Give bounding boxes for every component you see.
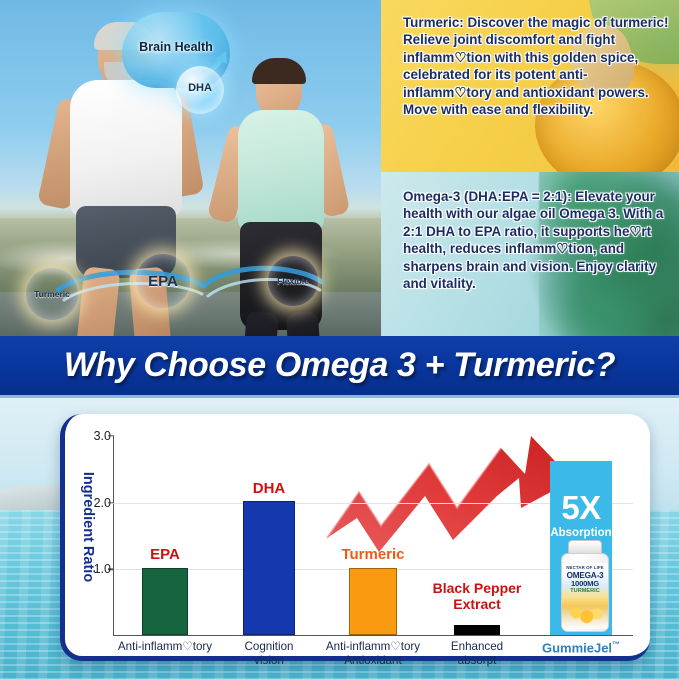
headline-banner: Why Choose Omega 3 + Turmeric? bbox=[0, 336, 679, 398]
x-axis-label: GummieJel™ bbox=[511, 640, 651, 656]
y-tick-label: 2.0 bbox=[81, 496, 111, 510]
product-bottle: NECTAR OF LIFEOMEGA-31000MGTURMERIC bbox=[559, 540, 611, 632]
x-axis-line bbox=[113, 635, 633, 636]
omega-description: Omega-3 (DHA:EPA = 2:1): Elevate your he… bbox=[403, 188, 669, 293]
pill-epa-label: EPA bbox=[148, 273, 178, 290]
runner-hair bbox=[252, 58, 306, 84]
chart-section: Ingredient Ratio 1 bbox=[0, 398, 679, 679]
bottle-secondary: TURMERIC bbox=[562, 588, 608, 594]
chart-bar bbox=[454, 625, 500, 635]
runner-tank-top bbox=[238, 110, 324, 232]
turmeric-description: Turmeric: Discover the magic of turmeric… bbox=[403, 14, 669, 119]
chart-card: Ingredient Ratio 1 bbox=[60, 414, 650, 661]
y-axis-line bbox=[113, 436, 114, 636]
page-title: Why Choose Omega 3 + Turmeric? bbox=[64, 346, 615, 385]
lifestyle-photo: Brain Health DHA Turmeric EPA bbox=[0, 0, 381, 336]
y-tick-label: 3.0 bbox=[81, 429, 111, 443]
turmeric-panel: Turmeric: Discover the magic of turmeric… bbox=[381, 0, 679, 172]
y-tick-label: 1.0 bbox=[81, 562, 111, 576]
chart-bar bbox=[243, 501, 295, 634]
absorption-sublabel: Absorption bbox=[526, 527, 636, 539]
pill-turmeric: Turmeric bbox=[26, 268, 78, 320]
chart-bar bbox=[349, 568, 397, 635]
runner-shirt bbox=[70, 80, 182, 218]
pill-flexible: Flexible bbox=[268, 256, 318, 306]
pill-turmeric-label: Turmeric bbox=[34, 289, 70, 299]
bottle-brand: NECTAR OF LIFE bbox=[562, 565, 608, 570]
bar-value-label: Turmeric bbox=[313, 546, 433, 563]
bar-value-label: DHA bbox=[209, 480, 329, 497]
bottle-gummies bbox=[568, 605, 604, 625]
bottle-dose: 1000MG bbox=[562, 579, 608, 588]
bar-value-label: Black Pepper Extract bbox=[412, 580, 542, 612]
infographic-page: Brain Health DHA Turmeric EPA bbox=[0, 0, 679, 679]
pill-epa: EPA bbox=[136, 254, 190, 308]
chart-plot-area: 1.02.03.0EPAAnti-inflamm♡toryDHACognitio… bbox=[113, 436, 633, 636]
bottle-label: NECTAR OF LIFEOMEGA-31000MGTURMERIC bbox=[562, 563, 608, 629]
omega-panel: Omega-3 (DHA:EPA = 2:1): Elevate your he… bbox=[381, 172, 679, 336]
hero-section: Brain Health DHA Turmeric EPA bbox=[0, 0, 679, 336]
chart-bar bbox=[142, 568, 188, 635]
bar-value-label: EPA bbox=[105, 546, 225, 563]
absorption-multiplier: 5X bbox=[526, 491, 636, 524]
absorption-callout: 5XAbsorption bbox=[526, 491, 636, 539]
pill-flexible-label: Flexible bbox=[277, 276, 309, 286]
bottle-body: NECTAR OF LIFEOMEGA-31000MGTURMERIC bbox=[561, 553, 609, 632]
dha-label: DHA bbox=[176, 82, 224, 94]
y-axis-title-wrap: Ingredient Ratio bbox=[75, 424, 101, 629]
